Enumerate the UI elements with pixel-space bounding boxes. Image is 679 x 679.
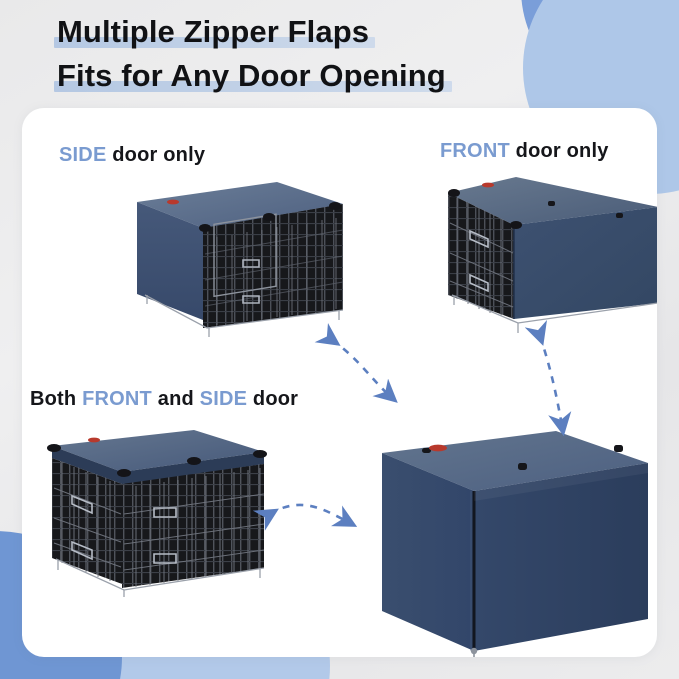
- headline-line-1: Multiple Zipper Flaps: [57, 12, 369, 52]
- brand-logo-patch: [88, 438, 100, 443]
- top-tab-2: [616, 213, 623, 218]
- panel-label-both-highlight-side: SIDE: [200, 388, 247, 410]
- arrow-front-to-closed: [540, 336, 562, 426]
- roll-strap-mid: [187, 457, 201, 465]
- arrow-side-to-closed: [332, 340, 390, 396]
- roll-strap-corner: [117, 469, 131, 477]
- panel-label-front-rest: door only: [510, 140, 609, 162]
- roll-strap-front: [510, 221, 522, 229]
- roll-strap-right: [329, 202, 341, 210]
- top-tab-1: [518, 463, 527, 470]
- panel-label-side-door-only: SIDE door only: [59, 144, 205, 167]
- headline-line-1-text: Multiple Zipper Flaps: [57, 14, 369, 49]
- product-image-both-doors: [24, 418, 274, 598]
- headline: Multiple Zipper Flaps Fits for Any Door …: [57, 12, 617, 100]
- top-tab-1: [548, 201, 555, 206]
- roll-strap-left: [199, 224, 211, 232]
- cover-side-panel: [514, 207, 657, 319]
- brand-logo-patch: [167, 200, 179, 205]
- panel-label-both-middle: and: [152, 388, 200, 410]
- product-image-front-door-only: [430, 163, 657, 335]
- panel-label-side-rest: door only: [106, 144, 205, 166]
- product-image-side-door-only: [117, 168, 347, 338]
- arrow-both-to-closed: [270, 505, 348, 522]
- panel-label-front-door-only: FRONT door only: [440, 140, 609, 163]
- roll-strap-corner: [448, 189, 460, 197]
- panel-label-side-highlight: SIDE: [59, 144, 106, 166]
- infographic-page: Multiple Zipper Flaps Fits for Any Door …: [0, 0, 679, 679]
- brand-logo-patch: [482, 183, 494, 188]
- roll-strap-right: [253, 450, 267, 458]
- panel-label-both-doors: Both FRONT and SIDE door: [30, 388, 298, 411]
- roll-strap-mid: [263, 213, 275, 221]
- top-tab-2: [614, 445, 623, 452]
- brand-logo-patch: [429, 445, 447, 452]
- wire-mesh-side-face: [122, 464, 264, 588]
- panel-label-both-suffix: door: [247, 388, 298, 410]
- content-card: SIDE door only FRONT door only Both FRON…: [22, 108, 657, 657]
- panel-label-both-highlight-front: FRONT: [82, 388, 152, 410]
- roll-strap-left: [47, 444, 61, 452]
- headline-line-2: Fits for Any Door Opening: [57, 56, 446, 96]
- product-image-closed-cover: [370, 423, 657, 657]
- panel-label-both-prefix: Both: [30, 388, 82, 410]
- headline-line-2-text: Fits for Any Door Opening: [57, 58, 446, 93]
- panel-label-front-highlight: FRONT: [440, 140, 510, 162]
